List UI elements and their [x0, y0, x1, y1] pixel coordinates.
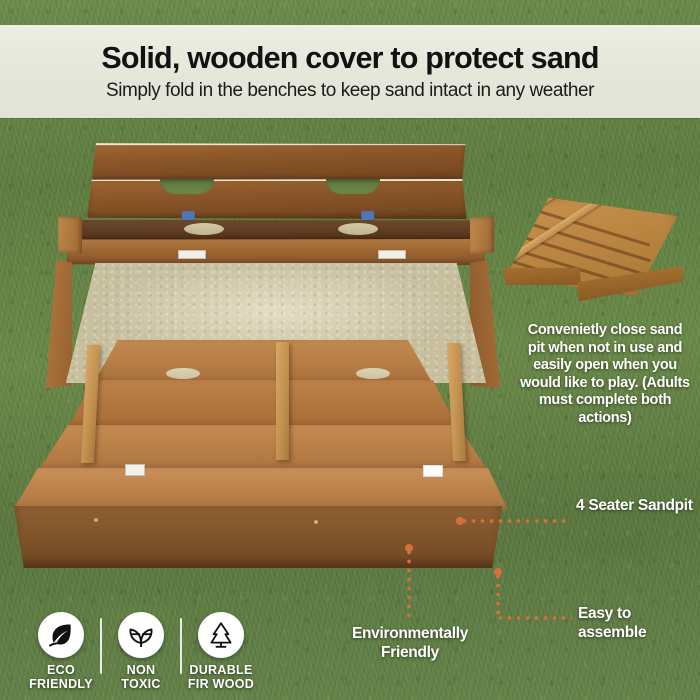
badge-non-toxic: NON TOXIC: [102, 612, 180, 691]
screw-head: [314, 520, 318, 524]
backrest-notch: [326, 179, 380, 194]
closed-sandpit-body: [500, 187, 685, 308]
leader-line-assemble-vertical: [496, 572, 500, 618]
page-subtitle: Simply fold in the benches to keep sand …: [106, 81, 594, 100]
two-leaves-icon: [118, 612, 164, 658]
screw-head: [94, 518, 98, 522]
backrest-clip: [361, 211, 374, 220]
product-sticker: [423, 465, 443, 477]
leader-anchor-dot: [456, 517, 464, 525]
rear-bench-dark-rail: [66, 220, 486, 240]
feature-badges: ECO FRIENDLY NON TOXIC: [22, 612, 284, 696]
pine-tree-icon: [198, 612, 244, 658]
rear-bench-handle-hole: [338, 223, 378, 235]
backrest-plank-bottom: [87, 179, 466, 219]
callout-seater-sandpit: 4 Seater Sandpit: [576, 496, 696, 515]
backrest-clip: [182, 211, 195, 220]
badge-caption: ECO FRIENDLY: [29, 664, 93, 691]
leader-anchor-dot: [494, 568, 502, 576]
badge-caption-line1: ECO: [47, 663, 75, 677]
backrest-notch: [160, 179, 214, 194]
closed-sandpit-inset-photo: [498, 188, 686, 310]
front-bench-plank: [8, 340, 508, 384]
leaf-icon: [38, 612, 84, 658]
product-sticker: [378, 250, 406, 259]
badge-caption-line1: NON: [127, 663, 156, 677]
rear-bench-light-rail: [66, 239, 486, 265]
sandpit-backrest: [87, 135, 466, 227]
backrest-plank-top: [88, 143, 466, 181]
callout-easy-to-assemble: Easy to assemble: [578, 604, 696, 642]
badge-caption-line1: DURABLE: [189, 663, 252, 677]
header-banner: Solid, wooden cover to protect sand Simp…: [0, 25, 700, 118]
leader-line-assemble-horizontal: [496, 616, 572, 620]
rear-bench-end-cap: [470, 216, 494, 253]
rear-bench-end-cap: [58, 216, 82, 253]
badge-caption-line2: TOXIC: [121, 677, 160, 691]
callout-environmentally-friendly: Environmentally Friendly: [330, 624, 490, 662]
badge-caption: NON TOXIC: [121, 664, 160, 691]
rear-bench-handle-hole: [184, 223, 224, 235]
product-sticker: [125, 464, 145, 476]
front-bench-batten: [276, 342, 289, 460]
badge-caption: DURABLE FIR WOOD: [188, 664, 254, 691]
sandpit-product-photo: [8, 135, 508, 595]
page-title: Solid, wooden cover to protect sand: [101, 43, 598, 74]
sandpit-front-bench: [8, 340, 508, 540]
badge-caption-line2: FIR WOOD: [188, 677, 254, 691]
callout-convenience: Convenietly close sand pit when not in u…: [519, 322, 691, 427]
product-feature-image: Solid, wooden cover to protect sand Simp…: [0, 0, 700, 700]
product-sticker: [178, 250, 206, 259]
leader-anchor-dot: [405, 544, 413, 552]
leader-line-seater: [460, 519, 570, 523]
badge-durable-fir-wood: DURABLE FIR WOOD: [182, 612, 260, 691]
sandpit-front-face: [14, 506, 502, 568]
leader-line-eco: [407, 548, 411, 622]
badge-eco-friendly: ECO FRIENDLY: [22, 612, 100, 691]
front-bench-handle-hole: [356, 368, 390, 379]
front-bench-handle-hole: [166, 368, 200, 379]
badge-caption-line2: FRIENDLY: [29, 677, 93, 691]
sandpit-rear-bench: [66, 220, 486, 266]
